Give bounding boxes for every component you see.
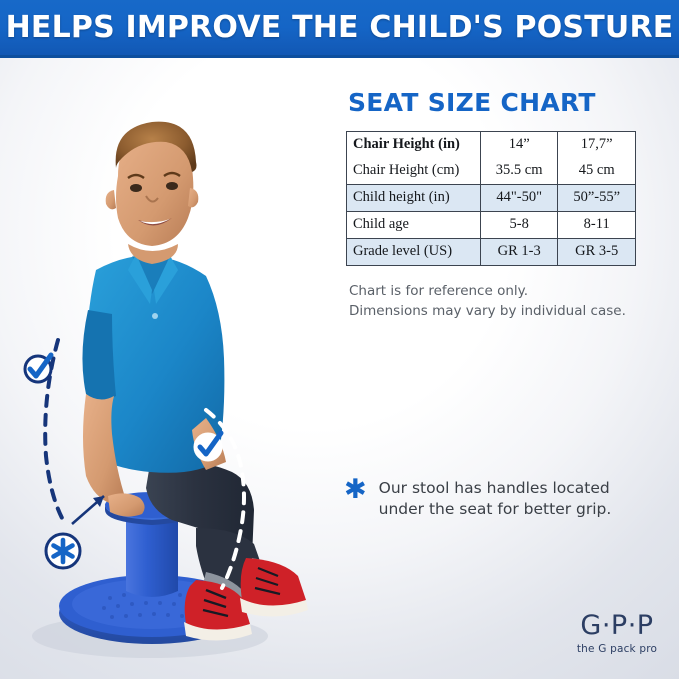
chart-title: SEAT SIZE CHART [348,88,658,117]
brand-logo-mark: G·P·P [567,612,667,639]
table-cell-label: Chair Height (cm) [347,158,481,185]
brand-logo: G·P·P the G pack pro [567,612,667,655]
chart-disclaimer: Chart is for reference only. Dimensions … [349,282,658,321]
seat-size-table: Chair Height (in) 14” 17,7” Chair Height… [346,131,636,266]
table-cell-label: Grade level (US) [347,239,481,266]
child-head [106,122,199,264]
posture-check-knee-icon [188,426,228,466]
feature-callout: ✱ Our stool has handles located under th… [344,478,654,520]
table-cell-value: 17,7” [558,132,636,159]
handle-callout-asterisk-icon [40,528,86,574]
feature-text-line-1: Our stool has handles located [379,478,612,499]
feature-text-line-2: under the seat for better grip. [379,499,612,520]
asterisk-bullet-icon: ✱ [344,480,367,500]
table-cell-value: 44"-50" [480,185,557,212]
infographic-page: HELPS IMPROVE THE CHILD'S POSTURE [0,0,679,679]
table-cell-value: GR 1-3 [480,239,557,266]
table-cell-value: GR 3-5 [558,239,636,266]
table-cell-value: 14” [480,132,557,159]
callout-arrow [72,496,104,524]
table-row: Grade level (US) GR 1-3 GR 3-5 [347,239,636,266]
brand-logo-tagline: the G pack pro [567,643,667,655]
table-cell-label: Chair Height (in) [347,132,481,159]
table-cell-value: 5-8 [480,212,557,239]
product-photo [0,58,346,679]
feature-text: Our stool has handles located under the … [379,478,612,520]
posture-check-spine-icon [18,348,58,388]
chart-disclaimer-line-2: Dimensions may vary by individual case. [349,302,658,322]
table-cell-value: 45 cm [558,158,636,185]
banner-title: HELPS IMPROVE THE CHILD'S POSTURE [6,10,674,45]
table-row: Chair Height (cm) 35.5 cm 45 cm [347,158,636,185]
table-row: Child height (in) 44"-50" 50”-55” [347,185,636,212]
table-cell-label: Child age [347,212,481,239]
table-row: Chair Height (in) 14” 17,7” [347,132,636,159]
table-cell-label: Child height (in) [347,185,481,212]
table-row: Child age 5-8 8-11 [347,212,636,239]
header-banner: HELPS IMPROVE THE CHILD'S POSTURE [0,0,679,58]
table-cell-value: 35.5 cm [480,158,557,185]
chart-disclaimer-line-1: Chart is for reference only. [349,282,658,302]
table-cell-value: 50”-55” [558,185,636,212]
table-cell-value: 8-11 [558,212,636,239]
chart-column: SEAT SIZE CHART Chair Height (in) 14” 17… [346,88,658,321]
